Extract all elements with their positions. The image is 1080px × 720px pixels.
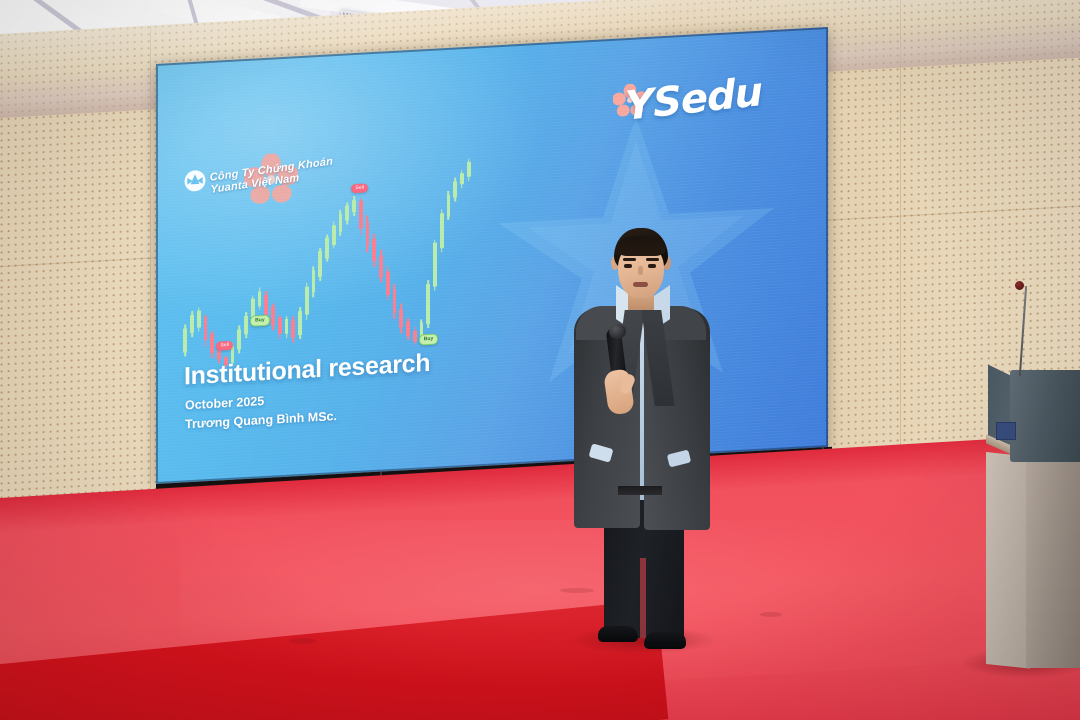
candlestick-up [305,283,309,320]
candle-body [366,221,370,247]
chart-marker-label: Buy [255,316,264,326]
candle-body [210,334,214,353]
candlestick-up [453,178,457,202]
slide-surface: Công Ty Chứng Khoán Yuanta Việt Nam [156,27,828,484]
candle-body [271,307,275,326]
candle-body [237,329,241,349]
podium-desk[interactable] [1010,370,1080,462]
candle-body [325,238,329,258]
podium-base-side [986,452,1030,669]
candle-body [447,194,451,216]
candlestick-down [413,327,417,346]
candle-body [453,181,457,198]
candle-body [339,213,343,232]
candlestick-up [318,247,322,280]
candlestick-down [406,318,410,340]
ysedu-logo: YSedu [611,73,801,139]
photo-scene: Công Ty Chứng Khoán Yuanta Việt Nam [0,0,1080,720]
candle-body [467,162,471,177]
candlestick-up [258,287,262,309]
chart-marker-label: Sell [355,183,364,192]
candlestick-up [345,202,349,224]
candle-body [190,315,194,334]
candle-body [352,200,356,213]
candlestick-down [372,233,376,266]
candle-body [285,319,289,334]
candle-body [393,289,397,313]
speaker-person [560,228,720,658]
candle-body [399,309,403,328]
candle-body [413,330,417,341]
candle-body [460,174,464,185]
candlestick-down [271,303,275,331]
speaker-left-shoe [598,626,638,642]
candlestick-up [339,210,343,236]
candlestick-up [237,325,241,353]
candle-body [426,284,430,325]
candlestick-up [285,315,289,337]
candlestick-up [325,234,329,262]
candle-body [264,294,268,314]
candlestick-up [190,311,194,337]
speaker-belt [618,486,662,495]
slide-date: October 2025 [185,394,264,412]
candle-body [372,239,376,261]
speaker-nose [638,266,643,275]
chart-marker-sell: Sell [351,183,368,193]
led-presentation-screen: Công Ty Chứng Khoán Yuanta Việt Nam [156,27,828,484]
candlestick-up [447,191,451,221]
candlestick-down [379,250,383,283]
podium-control-panel[interactable] [996,422,1016,440]
candle-body [305,287,309,315]
candle-body [244,316,248,335]
candlestick-up [352,196,356,216]
candle-body [406,322,410,337]
candlestick-down [204,314,208,347]
candlestick-down [399,304,403,334]
candle-body [345,206,349,221]
candle-body [278,318,282,335]
candle-body [183,328,187,352]
candlestick-down [366,215,370,252]
candlestick-up [467,158,471,180]
candle-body [433,243,437,287]
chart-marker-buy: Buy [250,315,269,327]
candlestick-up [460,170,464,189]
ysedu-logo-text: YSedu [624,69,763,130]
candlestick-down [291,317,295,343]
candle-body [197,311,201,328]
candle-body [359,201,363,229]
candlestick-down [386,266,390,301]
candle-body [386,271,390,295]
microphone-head-icon [1015,281,1024,290]
candle-body [298,311,302,335]
slide-presenter-name: Trương Quang Bình MSc. [185,409,337,431]
candle-body [258,291,262,306]
chart-marker-label: Buy [424,335,433,345]
candle-body [440,213,444,248]
candlestick-up [183,325,187,356]
speaker-right-shoe [644,632,686,649]
candlestick-up [433,239,437,291]
candle-body [291,320,295,337]
candle-body [332,225,336,245]
speaker-hair-fringe [616,236,666,256]
speaker-mouth [633,282,648,287]
candlestick-up [197,307,201,331]
candle-body [379,255,383,277]
candlestick-down [210,330,214,358]
candlestick-down [359,197,363,234]
chart-marker-buy: Buy [419,333,438,345]
candlestick-up [244,312,248,338]
candle-body [318,251,322,277]
candle-body [312,270,316,292]
candlestick-chart: SellBuySellBuy [182,147,472,383]
candlestick-down [393,284,397,319]
candlestick-up [298,307,302,338]
candlestick-up [332,221,336,249]
candlestick-up [312,266,316,297]
candlestick-up [440,210,444,252]
candlestick-up [426,280,430,328]
candlestick-down [278,314,282,340]
chart-marker-label: Sell [220,341,229,350]
speaker-leg-gap [640,558,646,638]
candle-body [204,316,208,340]
